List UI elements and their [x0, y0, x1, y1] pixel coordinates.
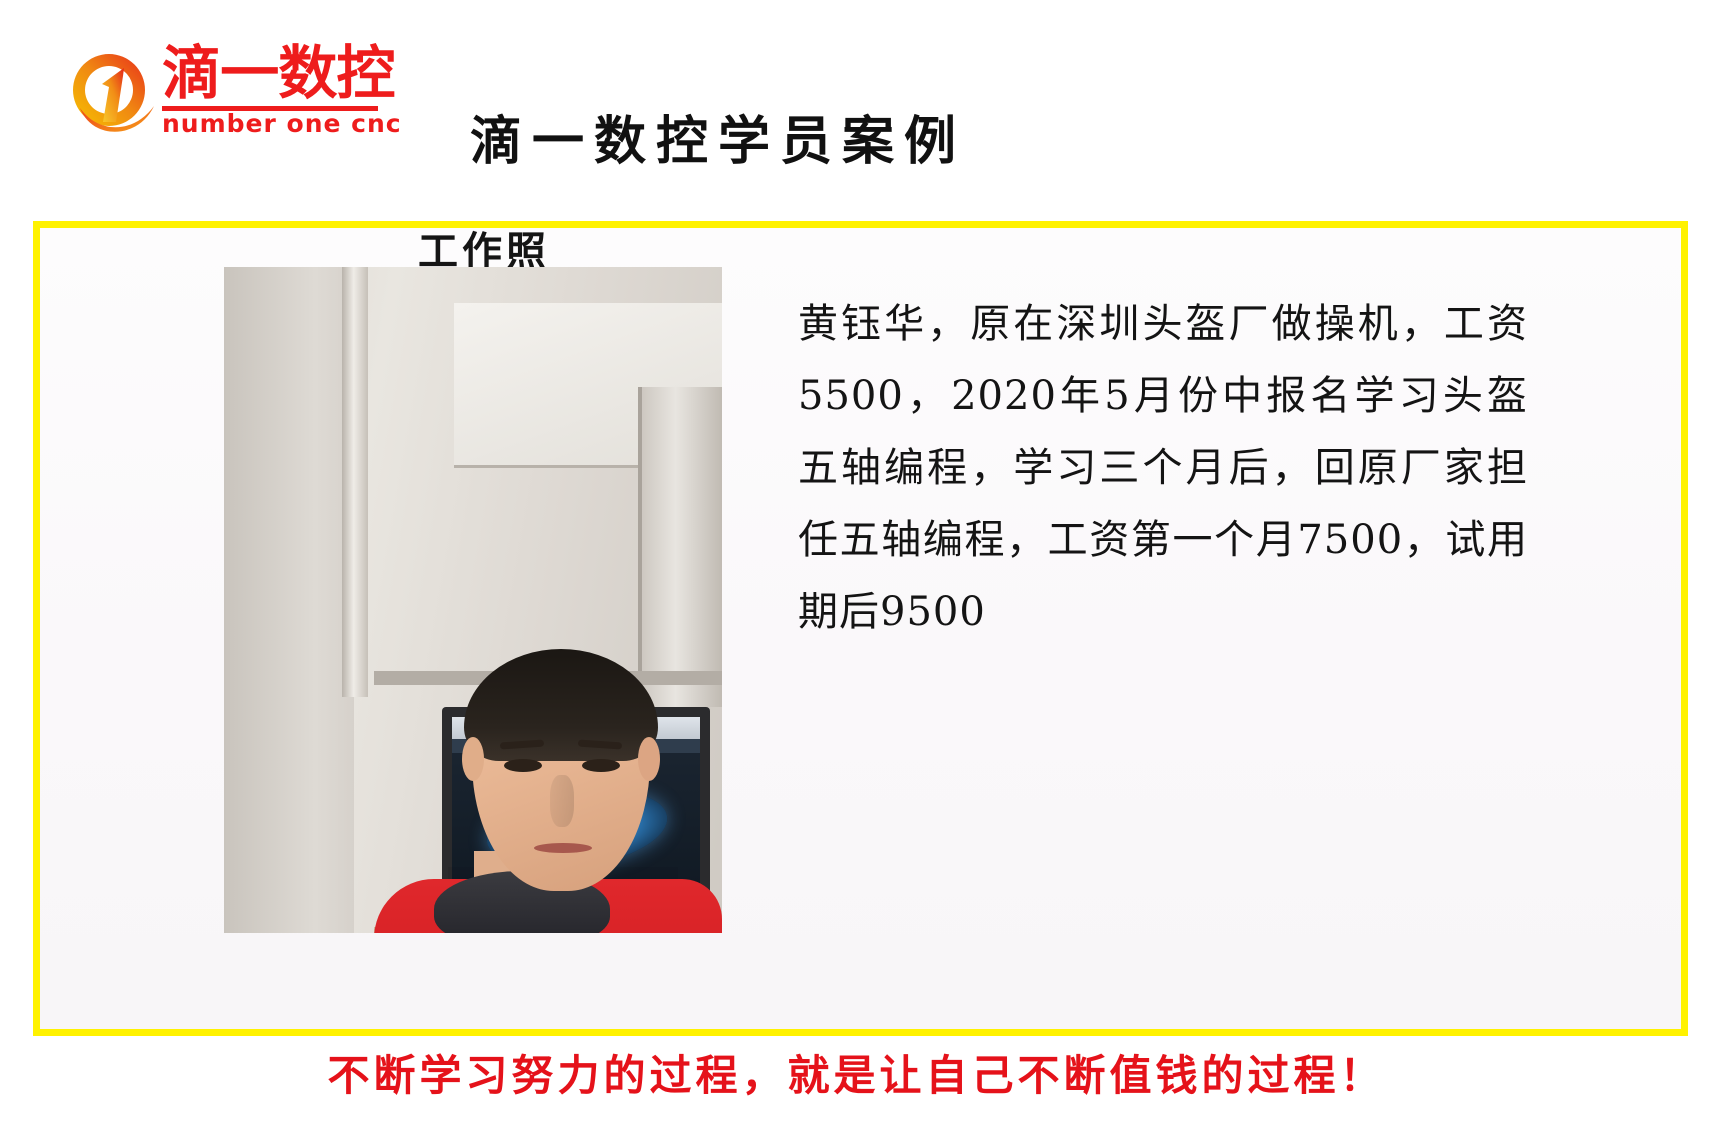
photo-person-mouth: [534, 843, 592, 853]
logo-emblem-icon: [62, 48, 156, 136]
student-work-photo: [224, 267, 722, 933]
photo-door-frame: [638, 387, 722, 707]
footer-slogan: 不断学习努力的过程，就是让自己不断值钱的过程！: [0, 1050, 1713, 1102]
page-title: 滴一数控学员案例: [470, 112, 1250, 172]
photo-person-eye-right: [582, 759, 620, 772]
logo-wordmark: 滴一数控 number one cnc: [162, 44, 378, 140]
photo-person-eye-left: [504, 759, 542, 772]
photo-person-ear-right: [638, 737, 660, 781]
logo-chinese-name: 滴一数控: [162, 42, 395, 104]
slide-canvas: 滴一数控 number one cnc 滴一数控学员案例 工作照: [0, 0, 1713, 1132]
photo-wall-left: [224, 267, 354, 933]
brand-logo: 滴一数控 number one cnc: [62, 44, 372, 142]
photo-person-nose: [550, 775, 574, 827]
student-story-text: 黄钰华，原在深圳头盔厂做操机，工资 5500，2020年5月份中报名学习头盔五轴…: [798, 288, 1528, 648]
logo-english-name: number one cnc: [162, 110, 378, 138]
photo-pillar: [342, 267, 368, 697]
photo-person-ear-left: [462, 737, 484, 781]
